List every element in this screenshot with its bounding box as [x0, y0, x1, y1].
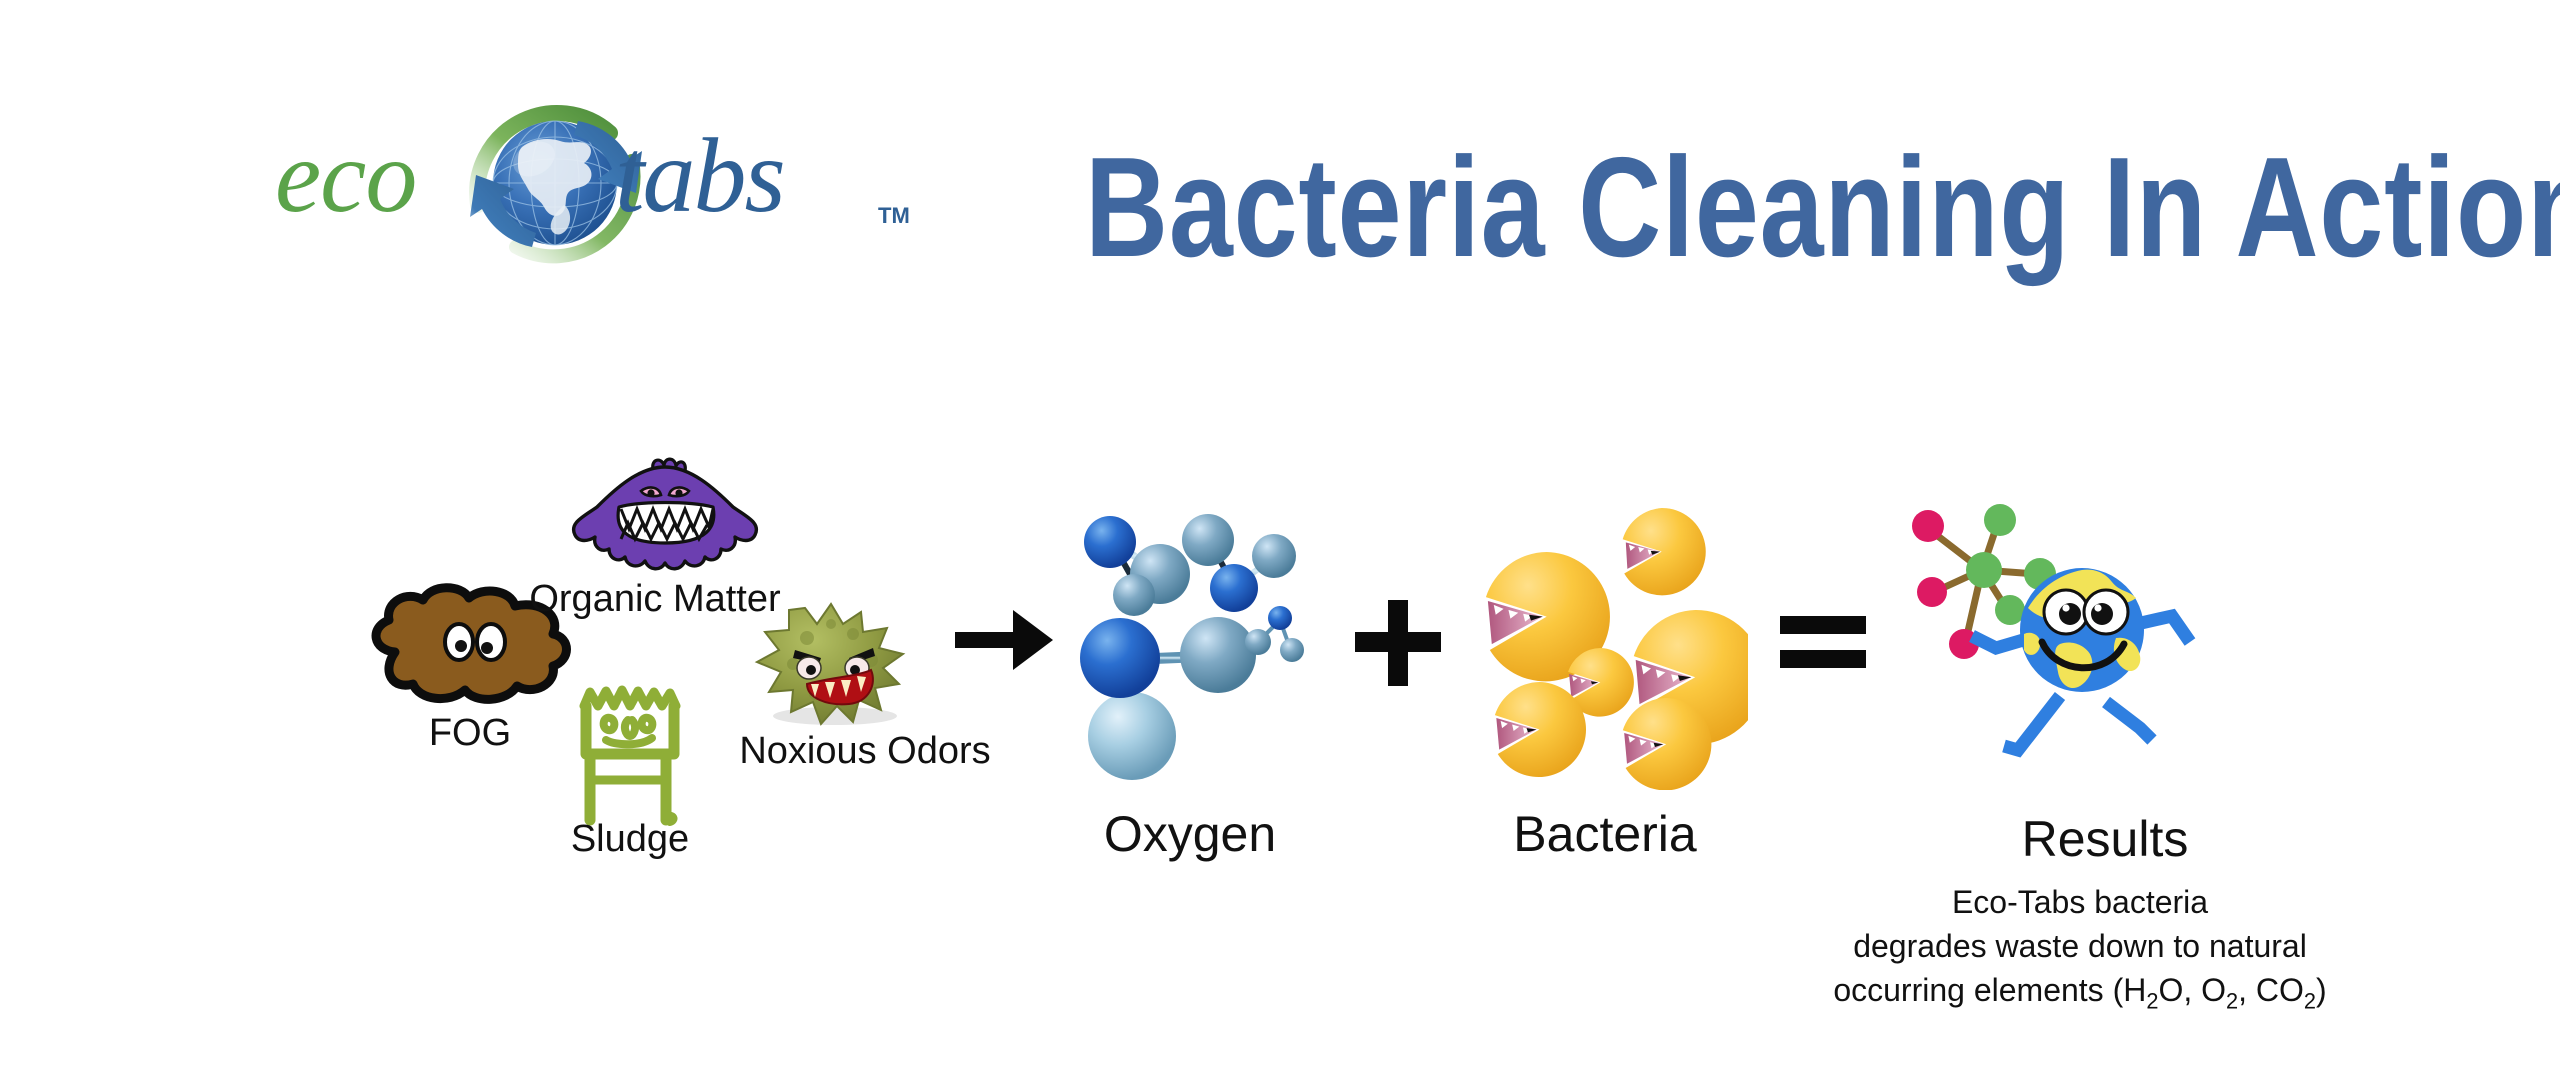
pacman-bacteria-icon	[1478, 500, 1748, 795]
fog-label: FOG	[355, 712, 585, 755]
formula-sub-c: 2	[2304, 989, 2316, 1014]
sludge-icon	[570, 680, 690, 835]
oxygen-molecules-icon	[1068, 500, 1348, 795]
plus-icon	[1355, 600, 1441, 686]
organic-matter-icon	[565, 455, 765, 585]
sludge-label: Sludge	[530, 818, 730, 861]
bacteria-label: Bacteria	[1455, 805, 1755, 863]
results-caption: Eco-Tabs bacteria degrades waste down to…	[1820, 880, 2340, 1017]
formula-prefix: occurring elements (H	[1833, 972, 2146, 1008]
equals-icon	[1780, 612, 1866, 672]
results-label: Results	[1940, 810, 2270, 868]
noxious-odors-icon	[745, 598, 915, 733]
reaction-diagram: FOG Organic Matter	[0, 0, 2560, 1091]
arrow-right-icon	[955, 600, 1055, 680]
formula-mid-1: O, O	[2158, 972, 2226, 1008]
results-caption-line-1: Eco-Tabs bacteria	[1820, 880, 2340, 924]
noxious-odors-label: Noxious Odors	[700, 730, 1030, 773]
results-caption-line-3: occurring elements (H2O, O2, CO2)	[1820, 968, 2340, 1016]
formula-sub-b: 2	[2226, 989, 2238, 1014]
formula-sub-a: 2	[2146, 989, 2158, 1014]
oxygen-label: Oxygen	[1040, 805, 1340, 863]
formula-suffix: )	[2316, 972, 2327, 1008]
happy-earth-character-icon	[1900, 478, 2200, 783]
formula-mid-2: , CO	[2238, 972, 2304, 1008]
results-caption-line-2: degrades waste down to natural	[1820, 924, 2340, 968]
infographic-canvas: eco	[0, 0, 2560, 1091]
